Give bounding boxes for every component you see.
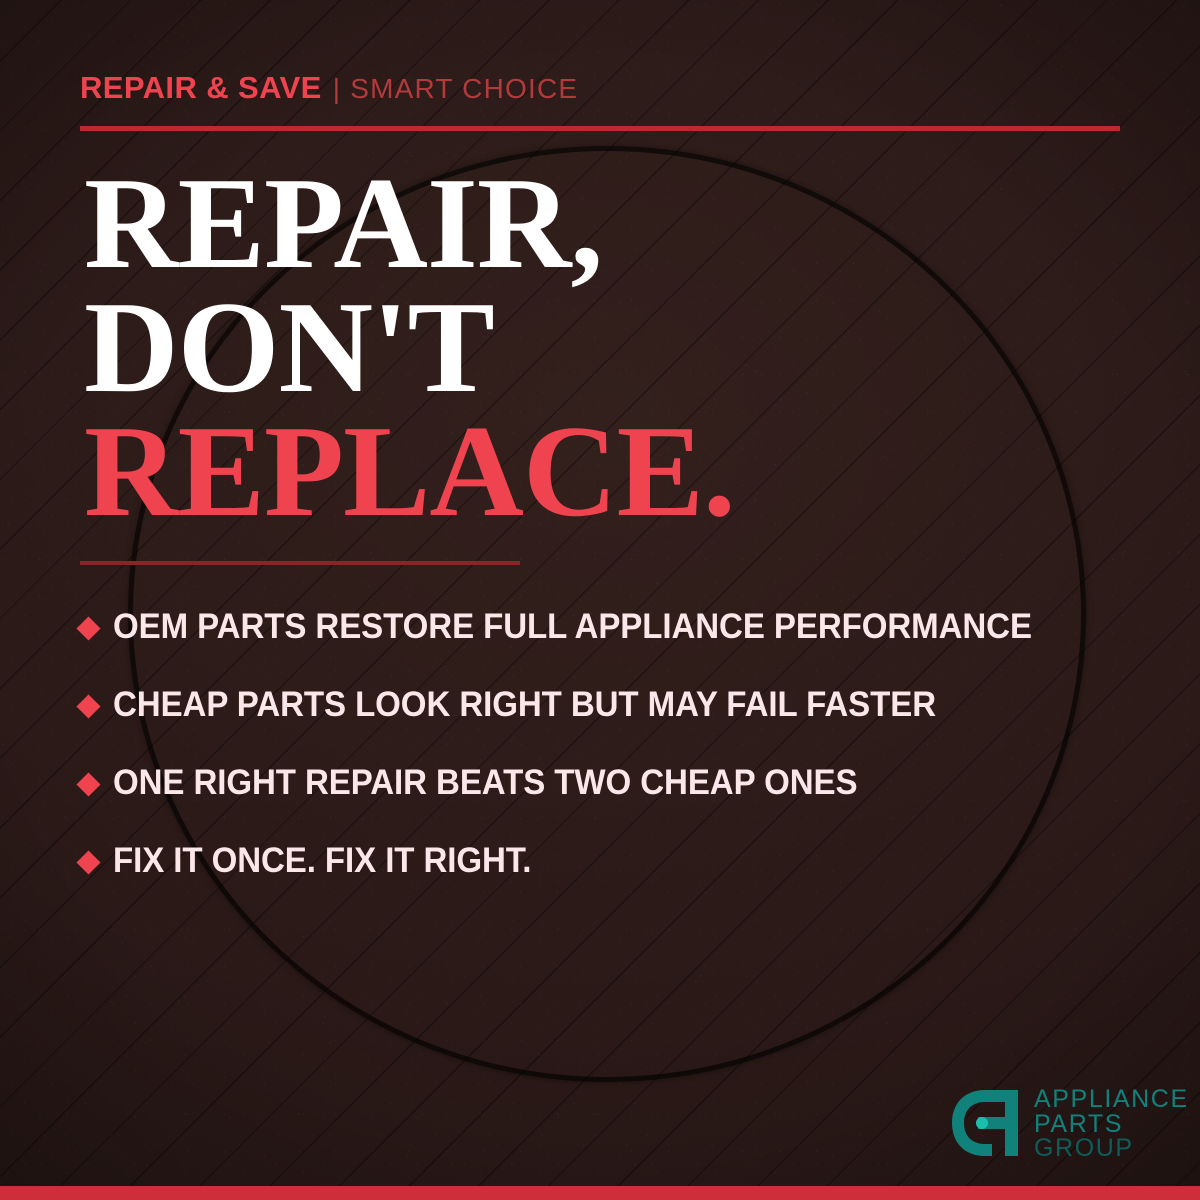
g-monogram-icon: [948, 1086, 1022, 1160]
headline-line-3: REPLACE.: [84, 410, 1124, 534]
diamond-icon: [76, 616, 100, 640]
bullet-label: OEM PARTS RESTORE FULL APPLIANCE PERFORM…: [113, 607, 1032, 647]
diamond-icon: [76, 772, 100, 796]
mid-divider-rule: [80, 561, 520, 565]
headline-line-2: DON'T: [84, 286, 1124, 410]
header-divider-rule: [80, 126, 1120, 131]
logo-line-parts: PARTS: [1034, 1112, 1189, 1137]
logo-line-group: GROUP: [1034, 1136, 1189, 1161]
poster-canvas: REPAIR & SAVE | SMART CHOICE REPAIR, DON…: [0, 0, 1200, 1200]
diamond-icon: [76, 850, 100, 874]
page-title: REPAIR, DON'T REPLACE.: [84, 162, 1124, 533]
bullet-list: OEM PARTS RESTORE FULL APPLIANCE PERFORM…: [80, 588, 1150, 900]
kicker-main-label: REPAIR & SAVE: [80, 72, 322, 103]
brand-logo: APPLIANCE PARTS GROUP: [948, 1086, 1189, 1161]
kicker-sub-label: | SMART CHOICE: [333, 75, 579, 103]
list-item: CHEAP PARTS LOOK RIGHT BUT MAY FAIL FAST…: [80, 666, 1150, 744]
logo-wordmark: APPLIANCE PARTS GROUP: [1034, 1086, 1189, 1161]
bullet-label: FIX IT ONCE. FIX IT RIGHT.: [113, 841, 531, 881]
poster-content: REPAIR & SAVE | SMART CHOICE REPAIR, DON…: [0, 0, 1200, 1200]
list-item: ONE RIGHT REPAIR BEATS TWO CHEAP ONES: [80, 744, 1150, 822]
headline-line-1: REPAIR,: [84, 162, 1124, 286]
logo-line-appliance: APPLIANCE: [1034, 1087, 1189, 1112]
bottom-accent-bar: [0, 1186, 1200, 1200]
list-item: OEM PARTS RESTORE FULL APPLIANCE PERFORM…: [80, 588, 1150, 666]
bullet-label: CHEAP PARTS LOOK RIGHT BUT MAY FAIL FAST…: [113, 685, 936, 725]
bullet-label: ONE RIGHT REPAIR BEATS TWO CHEAP ONES: [113, 763, 857, 803]
diamond-icon: [76, 694, 100, 718]
list-item: FIX IT ONCE. FIX IT RIGHT.: [80, 822, 1150, 900]
kicker: REPAIR & SAVE | SMART CHOICE: [80, 72, 578, 103]
